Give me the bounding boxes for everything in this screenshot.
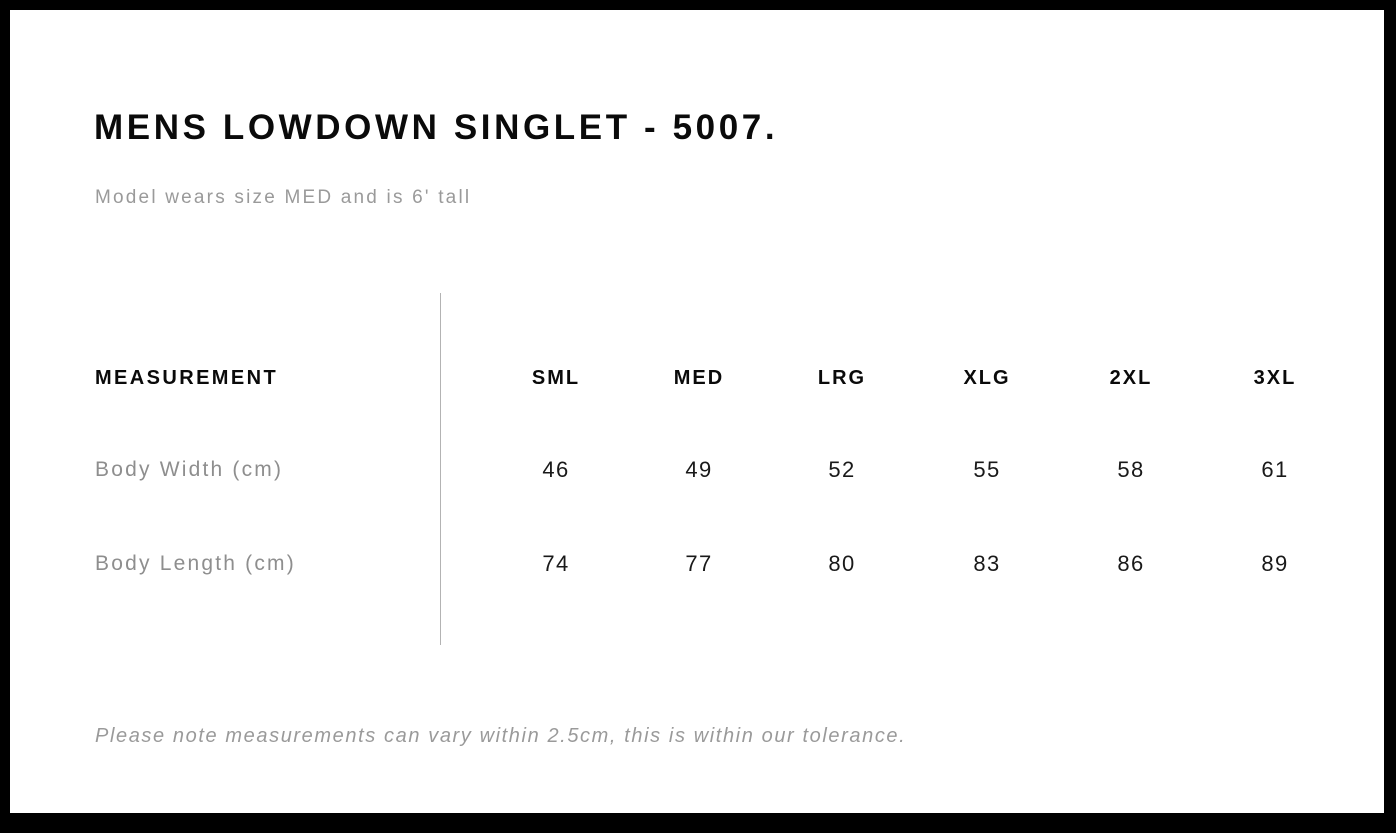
cell-body-length-sml: 74 [496, 544, 616, 584]
cell-body-width-lrg: 52 [782, 450, 902, 490]
black-border-frame: MENS LOWDOWN SINGLET - 5007. Model wears… [0, 0, 1396, 833]
row-label-body-length: Body Length (cm) [95, 544, 296, 584]
column-header-2xl: 2XL [1071, 358, 1191, 398]
column-header-xlg: XLG [927, 358, 1047, 398]
table-row: Body Width (cm) 46 49 52 55 58 61 [10, 450, 1384, 490]
column-header-lrg: LRG [782, 358, 902, 398]
table-header-row: MEASUREMENT SML MED LRG XLG 2XL 3XL [10, 358, 1384, 398]
cell-body-width-3xl: 61 [1215, 450, 1335, 490]
table-row: Body Length (cm) 74 77 80 83 86 89 [10, 544, 1384, 584]
cell-body-length-2xl: 86 [1071, 544, 1191, 584]
size-chart-table: MEASUREMENT SML MED LRG XLG 2XL 3XL Body… [10, 10, 1384, 813]
cell-body-length-xlg: 83 [927, 544, 1047, 584]
column-header-measurement: MEASUREMENT [95, 358, 278, 398]
cell-body-width-sml: 46 [496, 450, 616, 490]
cell-body-length-3xl: 89 [1215, 544, 1335, 584]
cell-body-width-xlg: 55 [927, 450, 1047, 490]
size-chart-card: MENS LOWDOWN SINGLET - 5007. Model wears… [10, 10, 1384, 813]
cell-body-width-med: 49 [639, 450, 759, 490]
cell-body-length-lrg: 80 [782, 544, 902, 584]
cell-body-length-med: 77 [639, 544, 759, 584]
row-label-body-width: Body Width (cm) [95, 450, 283, 490]
column-header-sml: SML [496, 358, 616, 398]
column-header-med: MED [639, 358, 759, 398]
column-header-3xl: 3XL [1215, 358, 1335, 398]
tolerance-footnote: Please note measurements can vary within… [95, 722, 906, 750]
cell-body-width-2xl: 58 [1071, 450, 1191, 490]
